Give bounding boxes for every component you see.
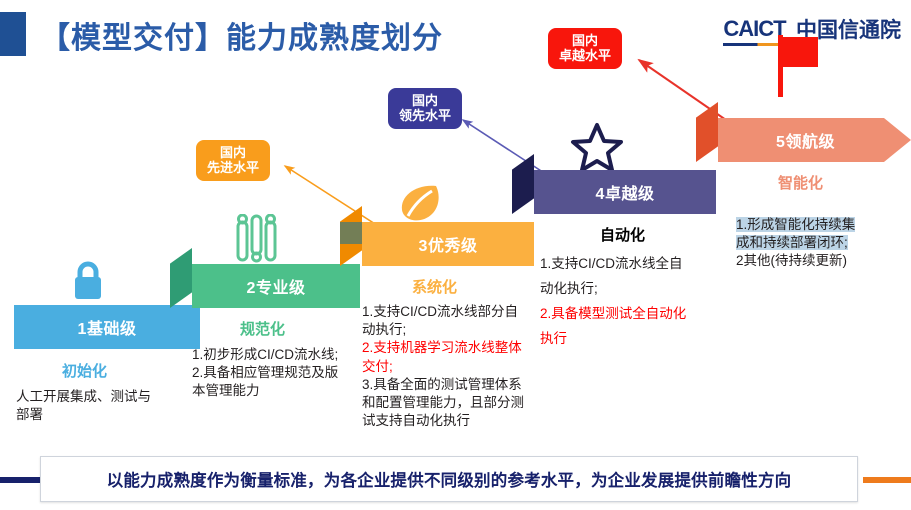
step-2-desc-line-2: 2.具备相应管理规范及版	[192, 364, 368, 382]
banner-rule-right	[863, 477, 911, 483]
step-4-desc-line-1: 1.支持CI/CD流水线全自	[540, 252, 726, 277]
step-1-desc-line-2: 部署	[16, 406, 184, 424]
step-4-desc-line-4: 执行	[540, 327, 726, 352]
step-5-desc-line-1: 1.形成智能化持续集	[736, 216, 910, 234]
badge-leading: 国内 领先水平	[388, 88, 462, 129]
step-2-label: 2专业级	[247, 274, 306, 298]
step-3-desc-line-4: 交付;	[362, 358, 548, 376]
step-5-desc-line-2: 成和持续部署闭环;	[736, 234, 910, 252]
badge-excellent-line2: 卓越水平	[559, 48, 611, 63]
lock-icon	[68, 258, 108, 304]
step-4-side-panel	[512, 154, 534, 214]
step-1-bar: 1基础级	[14, 305, 200, 349]
step-3-desc-line-5: 3.具备全面的测试管理体系	[362, 376, 548, 394]
step-2-description: 1.初步形成CI/CD流水线; 2.具备相应管理规范及版 本管理能力	[192, 346, 368, 401]
step-5-side-panel	[696, 102, 718, 162]
step-2-bar: 2专业级	[192, 264, 360, 308]
step-3-desc-line-7: 试支持自动化执行	[362, 412, 548, 430]
flag-icon	[775, 33, 821, 99]
step-3-desc-line-6: 和配置管理能力，且部分测	[362, 394, 548, 412]
step-4-desc-line-3: 2.具备模型测试全自动化	[540, 302, 726, 327]
leaf-icon	[396, 178, 444, 226]
step-2-desc-line-3: 本管理能力	[192, 382, 368, 400]
page-title: 【模型交付】能力成熟度划分	[40, 13, 443, 57]
badge-advanced: 国内 先进水平	[196, 140, 270, 181]
title-accent-bar	[0, 12, 26, 56]
step-4-subtitle: 自动化	[600, 224, 645, 245]
step-2-subtitle: 规范化	[240, 318, 285, 339]
step-1-label: 1基础级	[78, 315, 137, 339]
banner-text: 以能力成熟度作为衡量标准，为各企业提供不同级别的参考水平，为企业发展提供前瞻性方…	[107, 467, 792, 491]
sliders-icon	[234, 214, 280, 266]
badge-excellent-line1: 国内	[559, 33, 611, 48]
bottom-banner: 以能力成熟度作为衡量标准，为各企业提供不同级别的参考水平，为企业发展提供前瞻性方…	[0, 456, 911, 504]
step-3-bar: 3优秀级	[362, 222, 534, 266]
step-4-label: 4卓越级	[596, 180, 655, 204]
step-4-description: 1.支持CI/CD流水线全自 动化执行; 2.具备模型测试全自动化 执行	[540, 252, 726, 352]
star-icon	[570, 122, 624, 174]
step-3-desc-line-2: 动执行;	[362, 321, 548, 339]
badge-leading-line1: 国内	[399, 93, 451, 108]
step-3-description: 1.支持CI/CD流水线部分自 动执行; 2.支持机器学习流水线整体 交付; 3…	[362, 303, 548, 431]
step-5-description: 1.形成智能化持续集 成和持续部署闭环; 2其他(待持续更新)	[736, 216, 910, 271]
banner-box: 以能力成熟度作为衡量标准，为各企业提供不同级别的参考水平，为企业发展提供前瞻性方…	[40, 456, 858, 502]
step-3-label: 3优秀级	[419, 232, 478, 256]
badge-advanced-line1: 国内	[207, 145, 259, 160]
step-2-side-panel	[170, 248, 192, 308]
step-5-desc-line-3: 2其他(待持续更新)	[736, 252, 910, 270]
step-3-desc-line-1: 1.支持CI/CD流水线部分自	[362, 303, 548, 321]
badge-leading-line2: 领先水平	[399, 108, 451, 123]
step-2-desc-line-1: 1.初步形成CI/CD流水线;	[192, 346, 368, 364]
badge-excellent: 国内 卓越水平	[548, 28, 622, 69]
step-3-desc-line-3: 2.支持机器学习流水线整体	[362, 339, 548, 357]
step-1-description: 人工开展集成、测试与 部署	[16, 388, 184, 424]
step-3-corner-shade	[340, 222, 362, 244]
step-5-bar: 5领航级	[718, 118, 911, 162]
step-5-label: 5领航级	[776, 128, 835, 152]
step-1-subtitle: 初始化	[62, 360, 107, 381]
badge-advanced-line2: 先进水平	[207, 160, 259, 175]
slide-root: 【模型交付】能力成熟度划分 CAICT 中国信通院 国内 先进水平 国内 领先水…	[0, 0, 911, 510]
step-4-bar: 4卓越级	[534, 170, 716, 214]
step-1-desc-line-1: 人工开展集成、测试与	[16, 388, 184, 406]
step-5-subtitle: 智能化	[778, 172, 823, 193]
step-3-subtitle: 系统化	[412, 276, 457, 297]
step-4-desc-line-2: 动化执行;	[540, 277, 726, 302]
